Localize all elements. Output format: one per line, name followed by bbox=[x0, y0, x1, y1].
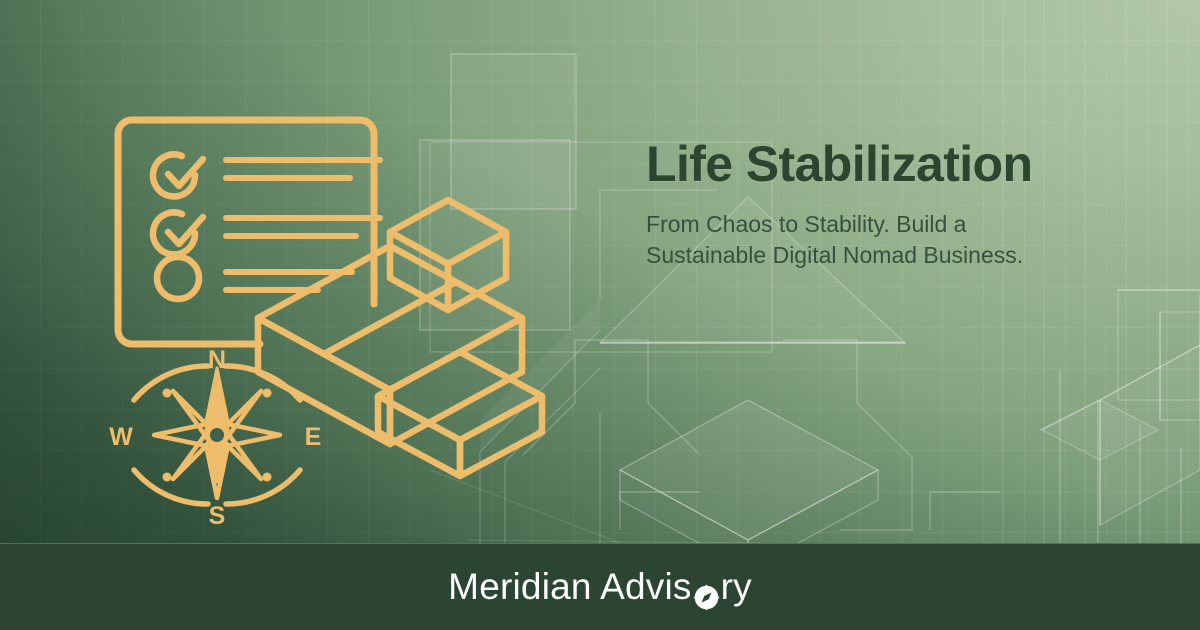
page-subtitle: From Chaos to Stability. Build a Sustain… bbox=[646, 209, 1116, 270]
hero-copy: Life Stabilization From Chaos to Stabili… bbox=[646, 138, 1146, 270]
brand-wordmark: Meridian Advis ry bbox=[448, 566, 752, 608]
compass-rose-icon: N E S W bbox=[109, 346, 321, 530]
subtitle-line-2: Sustainable Digital Nomad Business. bbox=[646, 242, 1023, 268]
brand-name-prefix: Meridian Advis bbox=[448, 566, 691, 608]
footer-bar: Meridian Advis ry bbox=[0, 543, 1200, 630]
page-title: Life Stabilization bbox=[646, 138, 1146, 191]
compass-icon bbox=[693, 578, 720, 605]
subtitle-line-1: From Chaos to Stability. Build a bbox=[646, 211, 966, 237]
checklist-card-icon bbox=[118, 120, 380, 344]
compass-label-south: S bbox=[209, 502, 226, 530]
compass-label-west: W bbox=[109, 423, 133, 451]
compass-label-north: N bbox=[208, 346, 226, 374]
hero-illustration: N E S W bbox=[60, 80, 580, 550]
brand-name-suffix: ry bbox=[721, 566, 752, 608]
stacked-blocks-icon bbox=[258, 200, 542, 476]
compass-label-east: E bbox=[305, 423, 322, 451]
promo-banner: N E S W Life Stabilization From Chaos to… bbox=[0, 0, 1200, 630]
